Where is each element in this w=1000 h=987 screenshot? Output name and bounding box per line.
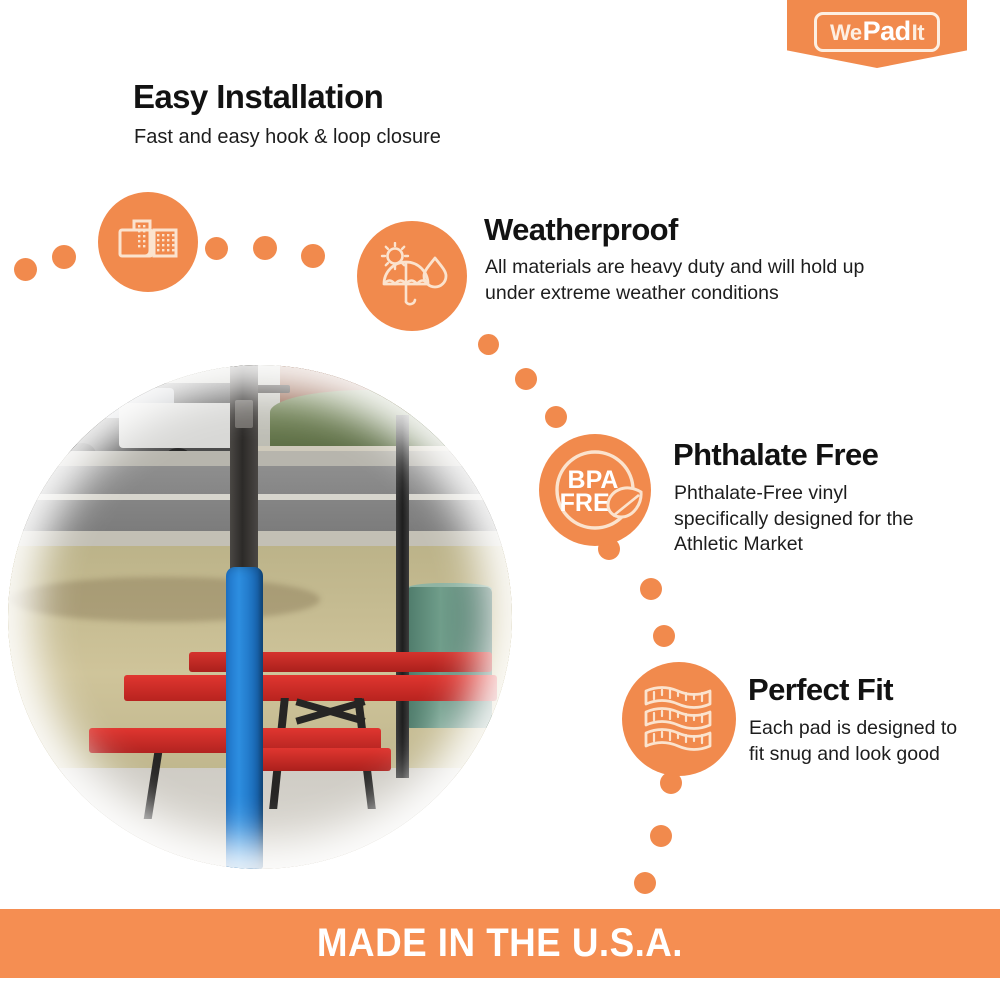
path-dot (253, 236, 277, 260)
path-dot (14, 258, 37, 281)
logo-text-pad: Pad (862, 18, 912, 45)
path-dot (640, 578, 662, 600)
path-dot (478, 334, 499, 355)
made-in-usa-banner: MADE IN THE U.S.A. (0, 909, 1000, 978)
feature-icon-phthalate-free: BPA FREE (539, 434, 651, 546)
logo-text-we: We (830, 22, 862, 44)
photo-vignette (8, 365, 512, 869)
infographic-page: We Pad It (0, 0, 1000, 987)
feature-description-weatherproof: All materials are heavy duty and will ho… (485, 255, 910, 306)
path-dot (634, 872, 656, 894)
path-dot (650, 825, 672, 847)
sun-umbrella-raindrop-icon (376, 242, 448, 310)
made-in-usa-text: MADE IN THE U.S.A. (317, 921, 683, 966)
feature-title-phthalate-free: Phthalate Free (673, 437, 878, 473)
feature-description-phthalate-free: Phthalate-Free vinyl specifically design… (674, 481, 944, 558)
brand-logo-badge: We Pad It (787, 0, 967, 68)
path-dot (515, 368, 537, 390)
feature-title-weatherproof: Weatherproof (484, 212, 678, 248)
feature-title-perfect-fit: Perfect Fit (748, 672, 893, 708)
logo-text-it: It (912, 22, 924, 44)
feature-title-easy-installation: Easy Installation (133, 78, 383, 116)
feature-icon-perfect-fit (622, 662, 736, 776)
feature-description-easy-installation: Fast and easy hook & loop closure (134, 124, 554, 150)
path-dot (52, 245, 76, 269)
path-dot (205, 237, 228, 260)
measuring-tape-icon (638, 679, 720, 759)
path-dot (301, 244, 325, 268)
product-photo (8, 365, 512, 869)
feature-icon-easy-installation (98, 192, 198, 292)
brand-logo-inner: We Pad It (814, 12, 940, 52)
feature-description-perfect-fit: Each pad is designed to fit snug and loo… (749, 716, 977, 767)
path-dot (653, 625, 675, 647)
bpa-free-leaf-icon: BPA FREE (545, 440, 645, 540)
feature-icon-weatherproof (357, 221, 467, 331)
path-dot (545, 406, 567, 428)
velcro-strap-icon (118, 216, 178, 268)
